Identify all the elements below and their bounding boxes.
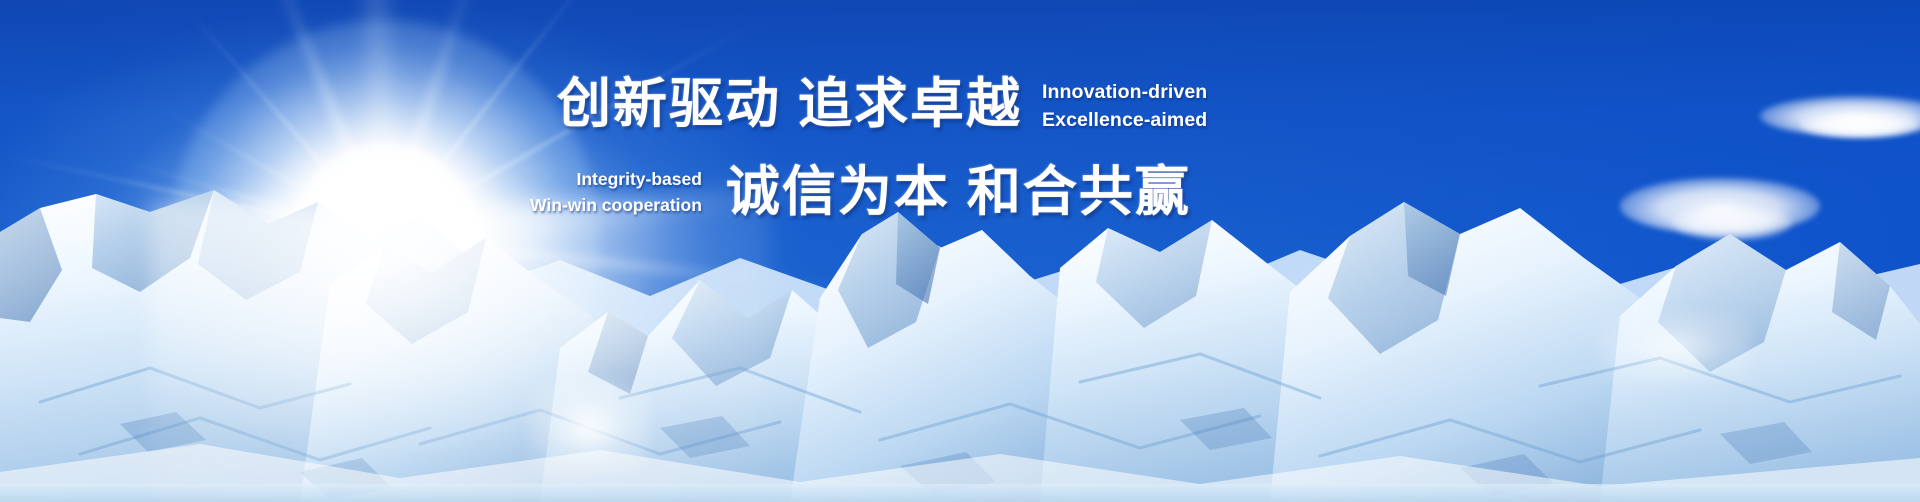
snow-glare-right [1600,312,1750,382]
cloud-2 [1800,112,1920,138]
hero-banner: 创新驱动 追求卓越 Innovation-driven Excellence-a… [0,0,1920,502]
snow-glare-left [530,382,650,472]
